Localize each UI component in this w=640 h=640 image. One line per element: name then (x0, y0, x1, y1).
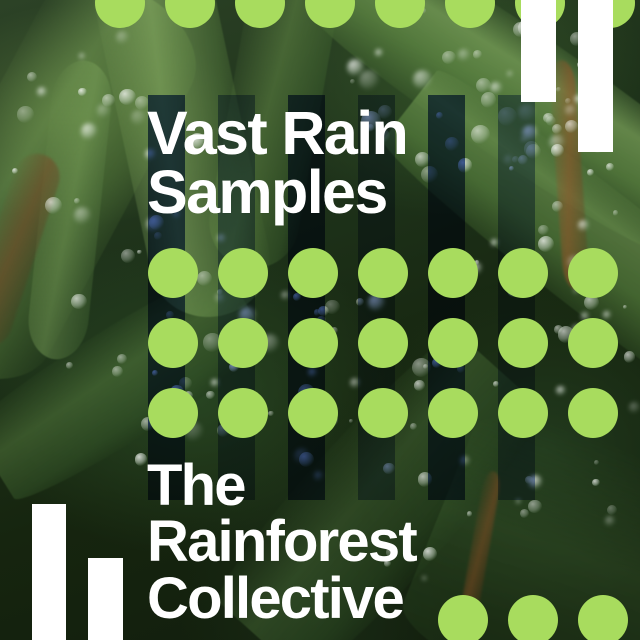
water-droplet (442, 51, 456, 65)
bottom-bar-left (32, 504, 66, 640)
water-droplet (206, 391, 214, 399)
green-dot (148, 388, 198, 438)
water-droplet (413, 70, 432, 89)
green-dot (288, 318, 338, 368)
water-droplet (112, 366, 122, 376)
water-droplet (507, 71, 513, 77)
water-droplet (543, 113, 553, 123)
water-droplet (458, 49, 470, 61)
green-dot (218, 248, 268, 298)
water-droplet (135, 453, 147, 465)
green-dot (498, 248, 548, 298)
top-bar-right (578, 0, 613, 152)
water-droplet (325, 300, 339, 314)
water-droplet (629, 402, 640, 413)
water-droplet (520, 509, 529, 518)
green-dot (498, 388, 548, 438)
water-droplet (471, 125, 490, 144)
water-droplet (12, 168, 18, 174)
album-title-line-1: Vast Rain (147, 104, 407, 163)
water-droplet (37, 87, 47, 97)
green-dot (428, 248, 478, 298)
water-droplet (556, 87, 561, 92)
water-droplet (375, 49, 383, 57)
artist-name-line-3: Collective (147, 571, 416, 627)
green-dot (358, 388, 408, 438)
water-droplet (117, 354, 127, 364)
water-droplet (538, 225, 548, 235)
album-cover-artwork: Vast Rain Samples The Rainforest Collect… (0, 0, 640, 640)
green-dot (508, 595, 558, 640)
green-dot (218, 388, 268, 438)
green-dot (568, 388, 618, 438)
artist-name-line-2: Rainforest (147, 514, 416, 570)
water-droplet (66, 362, 72, 368)
green-dot (148, 318, 198, 368)
water-droplet (594, 460, 599, 465)
water-droplet (592, 479, 600, 487)
bottom-bar-right (88, 558, 123, 640)
water-droplet (17, 106, 33, 122)
water-droplet (556, 386, 565, 395)
green-dot (568, 318, 618, 368)
water-droplet (74, 207, 91, 224)
water-droplet (81, 123, 97, 139)
water-droplet (71, 294, 87, 310)
water-droplet (623, 305, 627, 309)
water-droplet (624, 351, 635, 362)
water-droplet (552, 201, 563, 212)
green-dot (358, 318, 408, 368)
green-dot (148, 248, 198, 298)
album-title: Vast Rain Samples (147, 104, 407, 222)
water-droplet (422, 576, 427, 581)
blue-stripe (428, 95, 465, 500)
green-dot (428, 318, 478, 368)
water-droplet (131, 110, 146, 125)
water-droplet (414, 380, 425, 391)
artist-name-line-1: The (147, 458, 416, 514)
water-droplet (197, 271, 212, 286)
green-dot (498, 318, 548, 368)
green-dot (288, 388, 338, 438)
blue-stripe (498, 95, 535, 500)
water-droplet (467, 511, 473, 517)
green-dot (218, 318, 268, 368)
green-dot (358, 248, 408, 298)
green-dot (288, 248, 338, 298)
green-dot (568, 248, 618, 298)
water-droplet (473, 50, 482, 59)
artist-name: The Rainforest Collective (147, 458, 416, 627)
green-dot (428, 388, 478, 438)
water-droplet (528, 500, 541, 513)
top-bar-left (521, 0, 556, 102)
album-title-line-2: Samples (147, 163, 407, 222)
green-dot (578, 595, 628, 640)
water-droplet (423, 547, 437, 561)
water-droplet (565, 98, 571, 104)
water-droplet (476, 78, 491, 93)
green-dot (438, 595, 488, 640)
water-droplet (78, 88, 87, 97)
water-droplet (410, 423, 417, 430)
water-droplet (538, 236, 554, 252)
water-droplet (565, 105, 576, 116)
water-droplet (481, 92, 497, 108)
water-droplet (119, 89, 136, 106)
water-droplet (565, 120, 578, 133)
water-droplet (549, 135, 565, 151)
water-droplet (27, 72, 37, 82)
